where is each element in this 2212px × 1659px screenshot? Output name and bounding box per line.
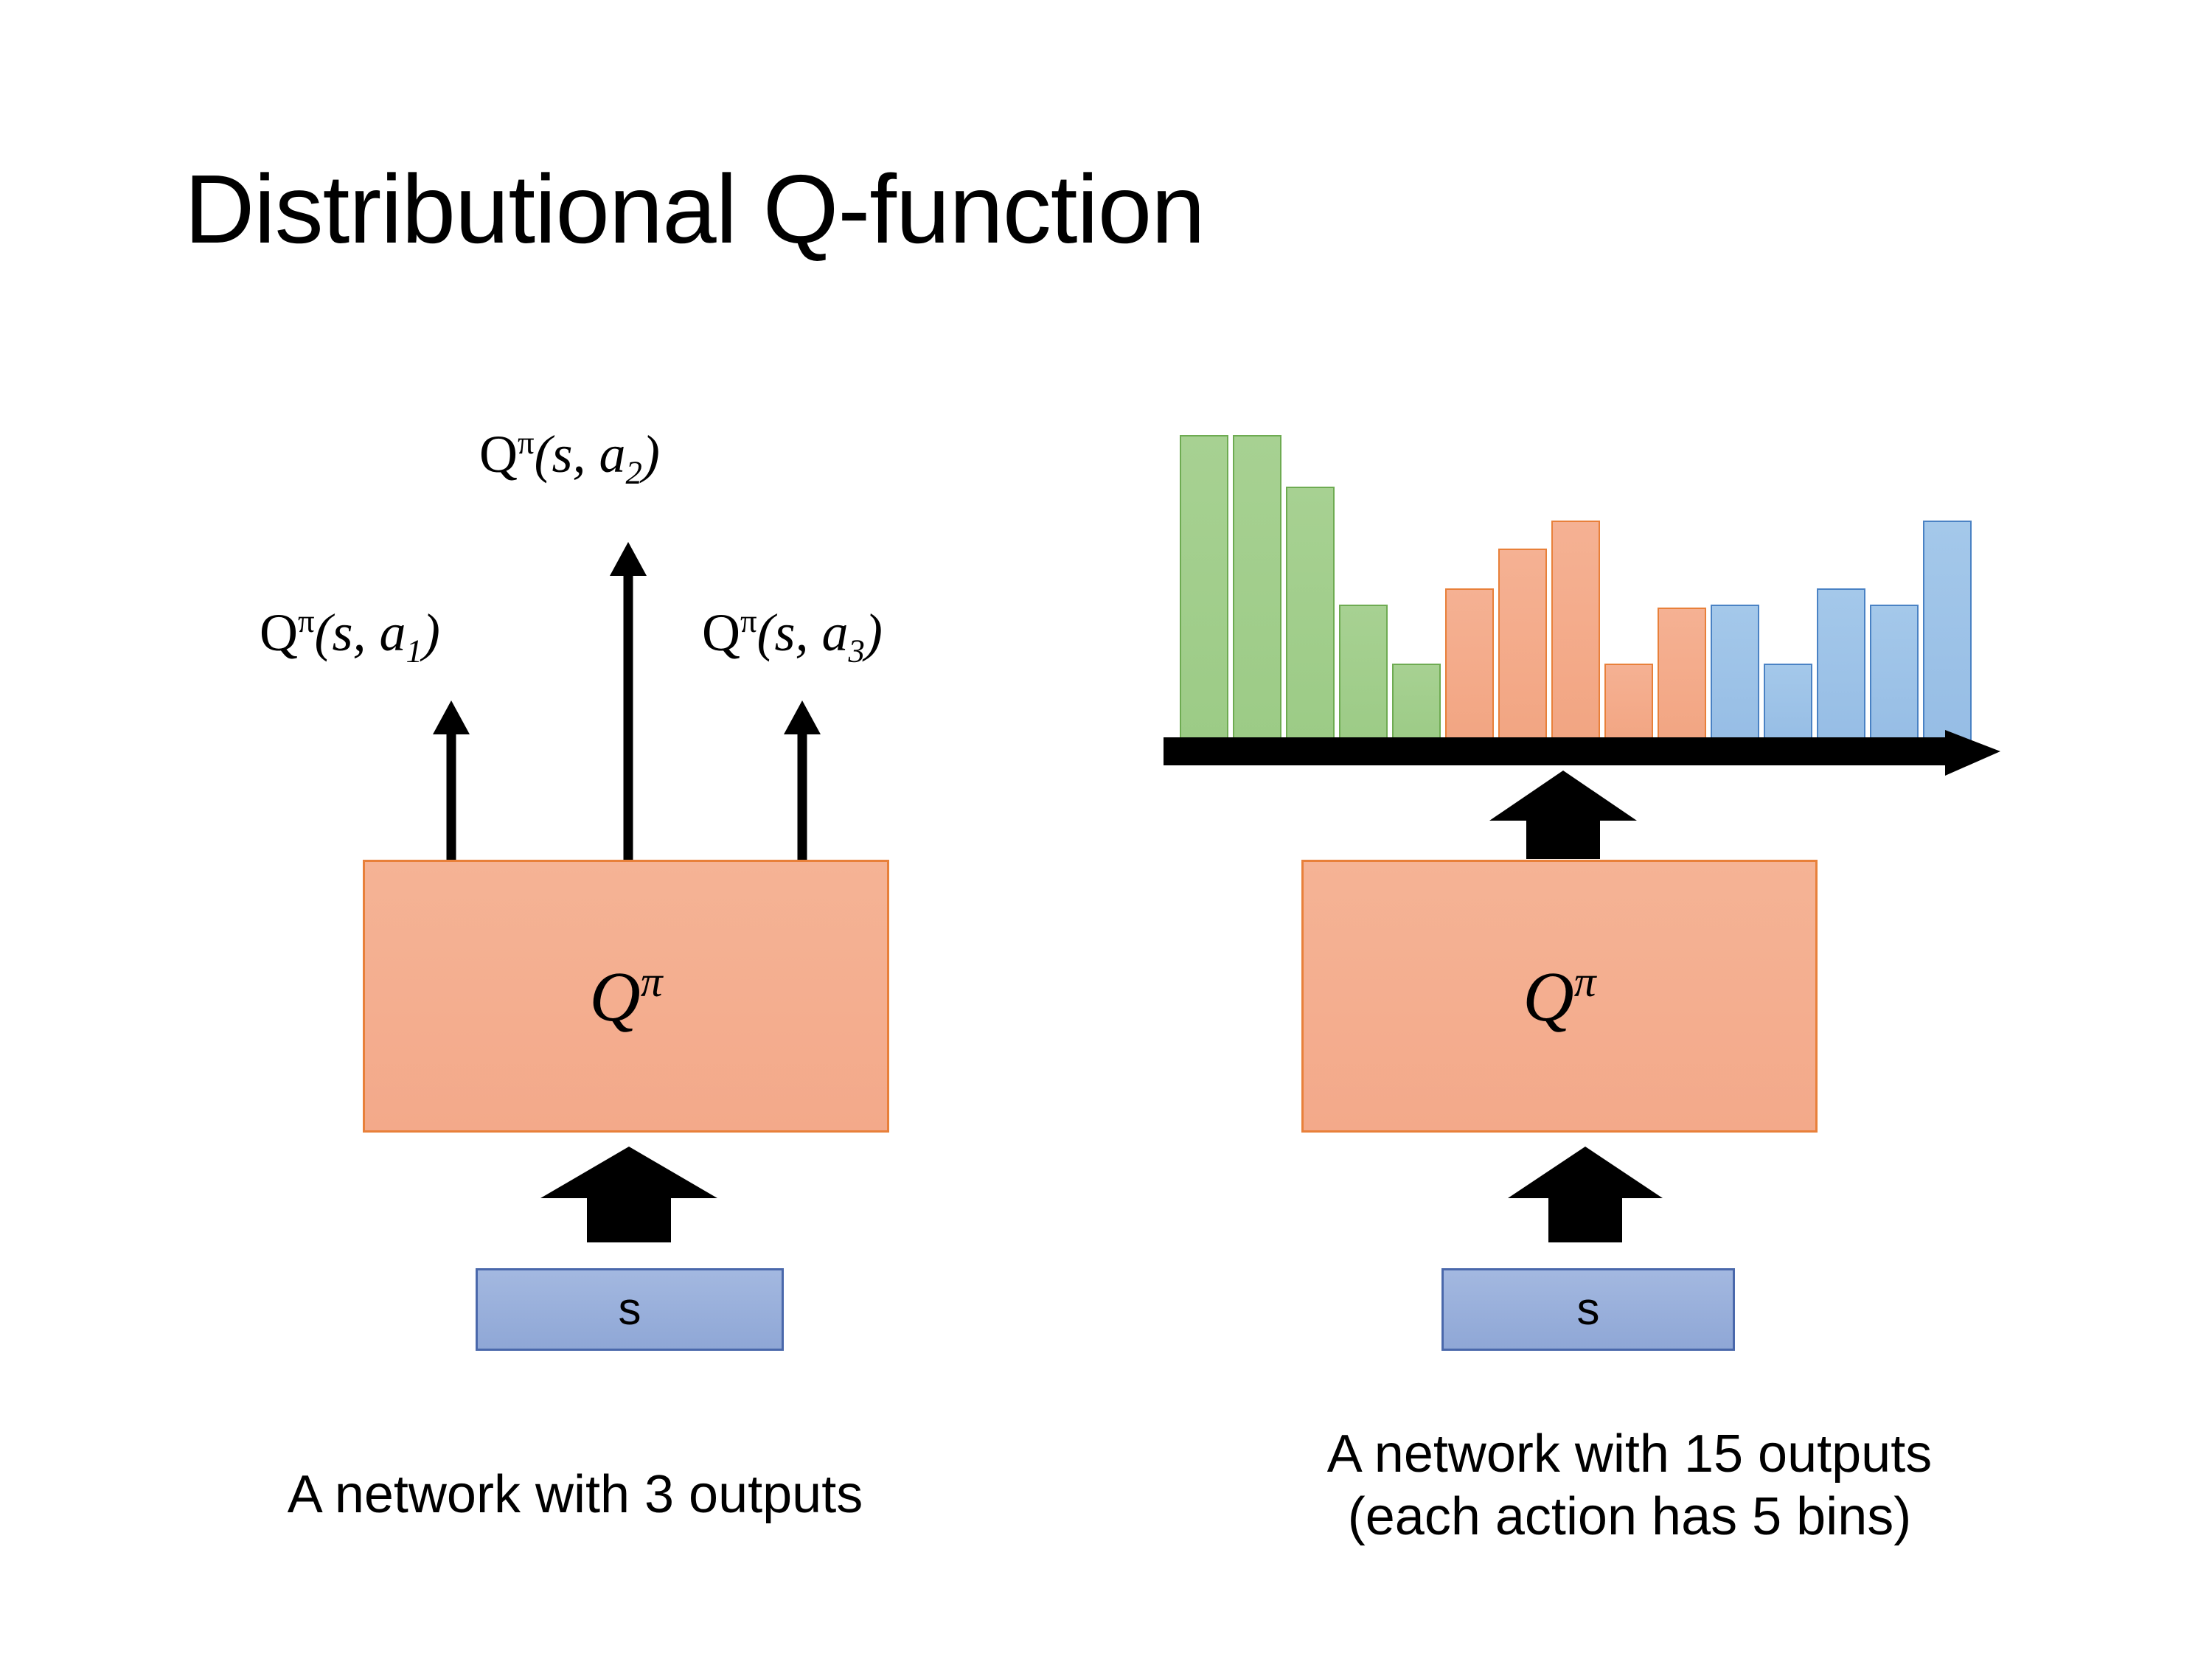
histogram-bar [1180, 435, 1228, 745]
q-args: (s, a [757, 603, 849, 662]
histogram-bar [1498, 549, 1547, 745]
q-args: (s, a [315, 603, 406, 662]
q-close-paren: ) [642, 425, 660, 484]
q-network-label: Qπ [589, 960, 662, 1032]
caption-left: A network with 3 outputs [155, 1464, 995, 1526]
q-label-action-2: Qπ(s, a2) [479, 426, 660, 489]
slide-canvas: Distributional Q-function Qπ(s, a1) Qπ(s… [0, 0, 2212, 1659]
block-arrow-icon [537, 1147, 721, 1242]
q-label-action-1: Qπ(s, a1) [260, 605, 440, 667]
arrow-shaft [624, 571, 633, 861]
histogram-bar [1870, 605, 1919, 745]
q-close-paren: ) [422, 603, 440, 662]
page-title: Distributional Q-function [184, 161, 1205, 258]
caption-right: A network with 15 outputs (each action h… [1150, 1423, 2109, 1548]
state-to-network-arrow-left [537, 1147, 721, 1242]
histogram-bar [1817, 588, 1865, 745]
q-symbol: Q [1523, 957, 1573, 1036]
action-index: 3 [849, 632, 865, 669]
state-to-network-arrow-right [1504, 1147, 1666, 1242]
histogram-bar [1711, 605, 1759, 745]
arrow-shaft [447, 730, 456, 861]
pi-superscript: π [641, 957, 663, 1006]
pi-superscript: π [740, 602, 757, 639]
histogram-bar [1551, 521, 1600, 745]
histogram-bar [1286, 487, 1335, 745]
histogram-bar [1339, 605, 1388, 745]
q-network-box-right[interactable]: Qπ [1301, 860, 1818, 1133]
arrow-shaft [798, 730, 807, 861]
state-label: s [619, 1287, 641, 1332]
pi-superscript: π [298, 602, 315, 639]
action-index: 2 [626, 453, 642, 490]
action-index: 1 [406, 632, 422, 669]
q-close-paren: ) [865, 603, 883, 662]
histogram-bar [1658, 608, 1706, 745]
q-symbol: Q [260, 603, 298, 662]
network-to-histogram-arrow [1486, 771, 1641, 859]
q-label-action-3: Qπ(s, a3) [702, 605, 883, 667]
histogram-bar [1233, 435, 1281, 745]
q-symbol: Q [702, 603, 740, 662]
block-arrow-icon [1486, 771, 1641, 859]
state-box-left[interactable]: s [476, 1268, 784, 1351]
state-box-right[interactable]: s [1441, 1268, 1735, 1351]
pi-superscript: π [518, 424, 535, 461]
q-symbol: Q [589, 957, 640, 1036]
q-args: (s, a [535, 425, 626, 484]
distribution-histogram [1180, 435, 1954, 745]
q-symbol: Q [479, 425, 518, 484]
q-network-label: Qπ [1523, 960, 1596, 1032]
histogram-bar [1923, 521, 1972, 745]
histogram-bar [1445, 588, 1494, 745]
block-arrow-icon [1504, 1147, 1666, 1242]
pi-superscript: π [1574, 957, 1596, 1006]
state-label: s [1577, 1287, 1600, 1332]
q-network-box-left[interactable]: Qπ [363, 860, 889, 1133]
